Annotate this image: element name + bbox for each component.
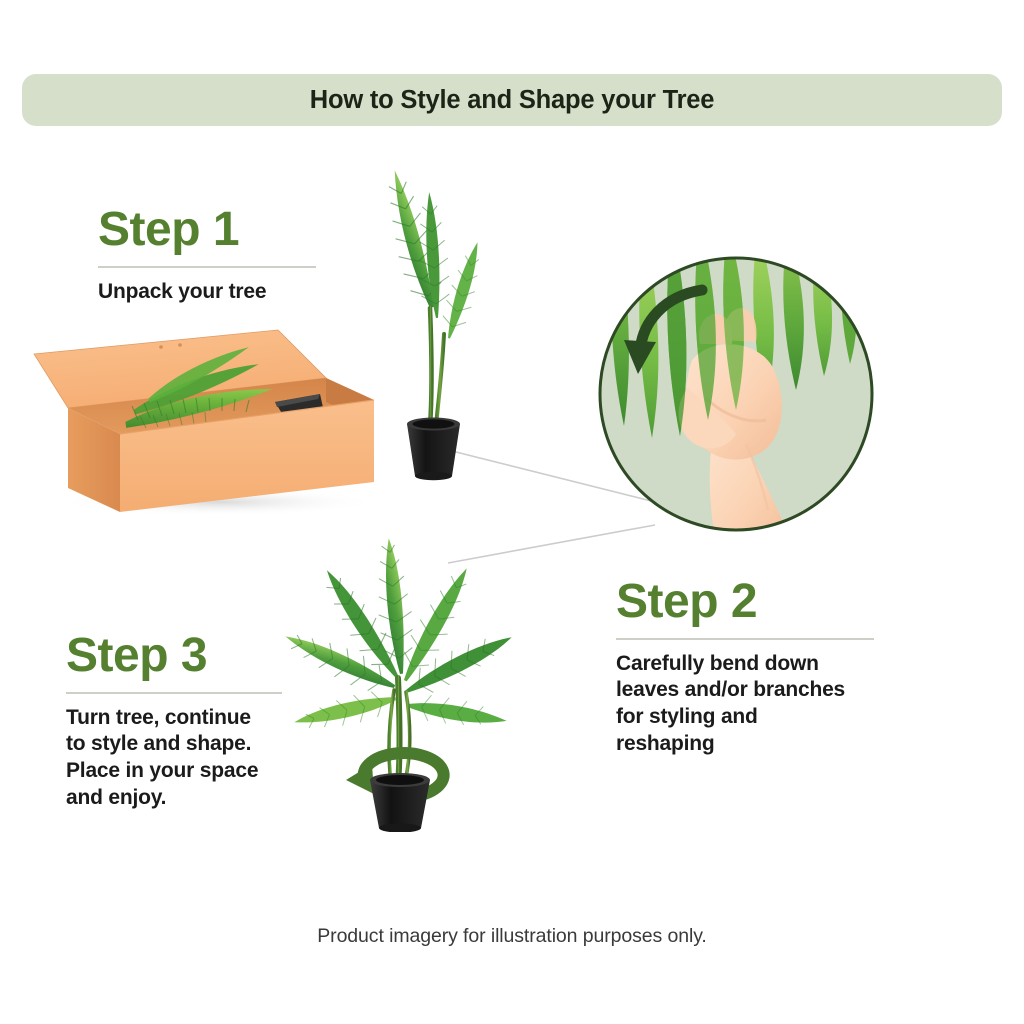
step-2-body-line: Carefully bend down	[616, 651, 876, 678]
step-3-body: Turn tree, continue to style and shape. …	[66, 705, 282, 813]
step-1-body: Unpack your tree	[98, 279, 316, 306]
cardboard-box-illustration	[28, 316, 400, 516]
step-1-body-line: Unpack your tree	[98, 279, 316, 306]
styled-potted-tree-illustration	[278, 492, 514, 832]
page-title: How to Style and Shape your Tree	[22, 74, 1002, 126]
step-3-body-line: to style and shape.	[66, 731, 282, 758]
step-3-body-line: Turn tree, continue	[66, 705, 282, 732]
step-2-body-line: reshaping	[616, 731, 876, 758]
step-3-body-line: and enjoy.	[66, 785, 282, 812]
step-3-body-line: Place in your space	[66, 758, 282, 785]
step-2-body-line: for styling and	[616, 704, 876, 731]
step-2-text-block: Step 2 Carefully bend down leaves and/or…	[616, 578, 876, 758]
header-banner: How to Style and Shape your Tree	[22, 74, 1002, 126]
step-1-divider	[98, 266, 316, 268]
zoom-detail-circle	[596, 248, 878, 544]
step-1-text-block: Step 1 Unpack your tree	[98, 206, 316, 305]
step-3-divider	[66, 692, 282, 694]
step-2-heading: Step 2	[616, 578, 876, 626]
step-2-body-line: leaves and/or branches	[616, 677, 876, 704]
unstyled-potted-tree-illustration	[352, 158, 532, 488]
step-3-heading: Step 3	[66, 632, 282, 680]
step-2-body: Carefully bend down leaves and/or branch…	[616, 651, 876, 759]
step-1-heading: Step 1	[98, 206, 316, 254]
step-2-divider	[616, 638, 874, 640]
step-3-text-block: Step 3 Turn tree, continue to style and …	[66, 632, 282, 812]
infographic-canvas: How to Style and Shape your Tree Step 1 …	[0, 0, 1024, 1024]
footer-disclaimer: Product imagery for illustration purpose…	[0, 925, 1024, 948]
